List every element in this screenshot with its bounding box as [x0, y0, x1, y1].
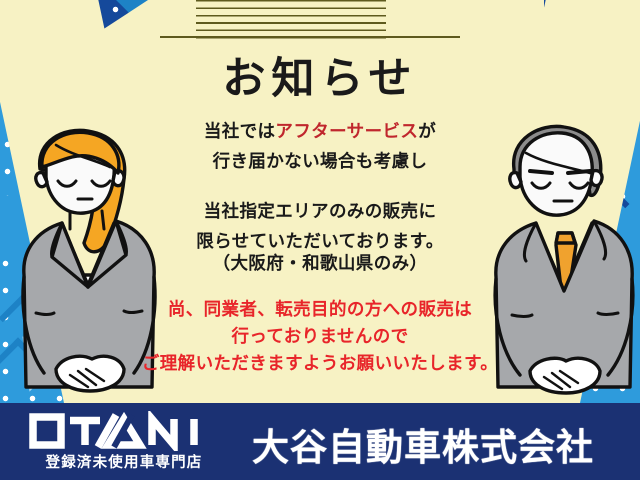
- notice-text-block: お知らせ 当社ではアフターサービスが 行き届かない場合も考慮し 当社指定エリアの…: [0, 0, 640, 403]
- otani-wordmark-icon: [28, 411, 220, 451]
- footer-bar: 登録済未使用車専門店 大谷自動車株式会社: [0, 403, 640, 480]
- company-name: 大谷自動車株式会社: [252, 417, 594, 471]
- paragraph1-line1-prefix: 当社では: [204, 122, 276, 142]
- paragraph2-line1: 当社指定エリアのみの販売に: [0, 198, 640, 223]
- paragraph1-line1: 当社ではアフターサービスが: [0, 118, 640, 143]
- notice-banner: ✳ ✳: [0, 0, 640, 480]
- notice-line1: 尚、同業者、転売目的の方への販売は: [0, 296, 640, 321]
- paragraph1-line1-accent: アフターサービス: [275, 122, 418, 142]
- notice-line2: 行っておりませんので: [0, 323, 640, 348]
- paragraph1-line2: 行き届かない場合も考慮し: [0, 148, 640, 173]
- paragraph2-line3: （大阪府・和歌山県のみ）: [0, 250, 640, 275]
- paragraph1-line1-suffix: が: [418, 122, 436, 142]
- notice-line3: ご理解いただきますようお願いいたします。: [0, 350, 640, 375]
- brand-logo[interactable]: 登録済未使用車専門店: [28, 411, 220, 473]
- page-title: お知らせ: [0, 44, 640, 106]
- logo-tagline: 登録済未使用車専門店: [28, 451, 220, 472]
